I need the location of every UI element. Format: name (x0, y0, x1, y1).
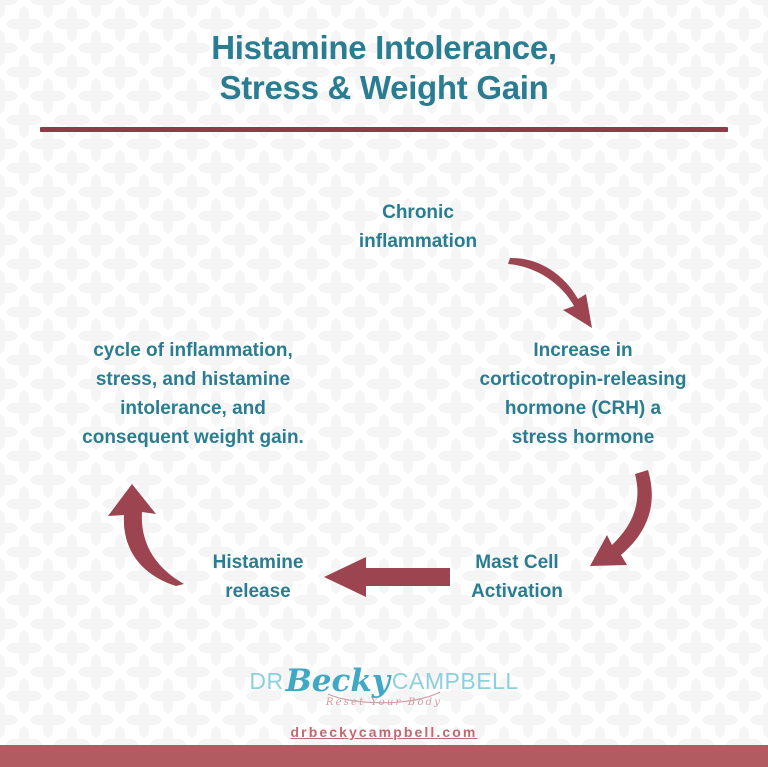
node-line: stress hormone (423, 423, 743, 452)
node-chronic-inflammation: Chronic inflammation (288, 198, 548, 256)
node-line: intolerance, and (28, 394, 358, 423)
node-mast-cell-activation: Mast Cell Activation (406, 548, 628, 606)
page-title: Histamine Intolerance, Stress & Weight G… (0, 28, 768, 108)
node-histamine-release: Histamine release (148, 548, 368, 606)
node-line: cycle of inflammation, (28, 336, 358, 365)
title-line-2: Stress & Weight Gain (0, 68, 768, 108)
arrow-chronic-to-crh-icon (506, 258, 596, 330)
title-divider (40, 127, 728, 132)
node-cycle-weight-gain: cycle of inflammation, stress, and hista… (28, 336, 358, 452)
logo-wordmark: DRBeckyCAMPBELL Reset Your Body (249, 666, 518, 708)
footer-bar (0, 745, 768, 767)
node-line: inflammation (288, 227, 548, 256)
node-line: consequent weight gain. (28, 423, 358, 452)
node-line: Activation (406, 577, 628, 606)
node-line: stress, and histamine (28, 365, 358, 394)
node-line: hormone (CRH) a (423, 394, 743, 423)
logo-swoosh-icon (324, 690, 444, 706)
brand-logo: DRBeckyCAMPBELL Reset Your Body drbeckyc… (0, 666, 768, 740)
title-line-1: Histamine Intolerance, (0, 28, 768, 68)
infographic-canvas: Histamine Intolerance, Stress & Weight G… (0, 0, 768, 767)
website-url-link[interactable]: drbeckycampbell.com (0, 724, 768, 740)
node-line: Chronic (288, 198, 548, 227)
node-line: Histamine (148, 548, 368, 577)
node-line: release (148, 577, 368, 606)
node-line: Increase in (423, 336, 743, 365)
node-line: Mast Cell (406, 548, 628, 577)
node-line: corticotropin-releasing (423, 365, 743, 394)
node-crh-increase: Increase in corticotropin-releasing horm… (423, 336, 743, 452)
logo-prefix: DR (249, 668, 283, 694)
